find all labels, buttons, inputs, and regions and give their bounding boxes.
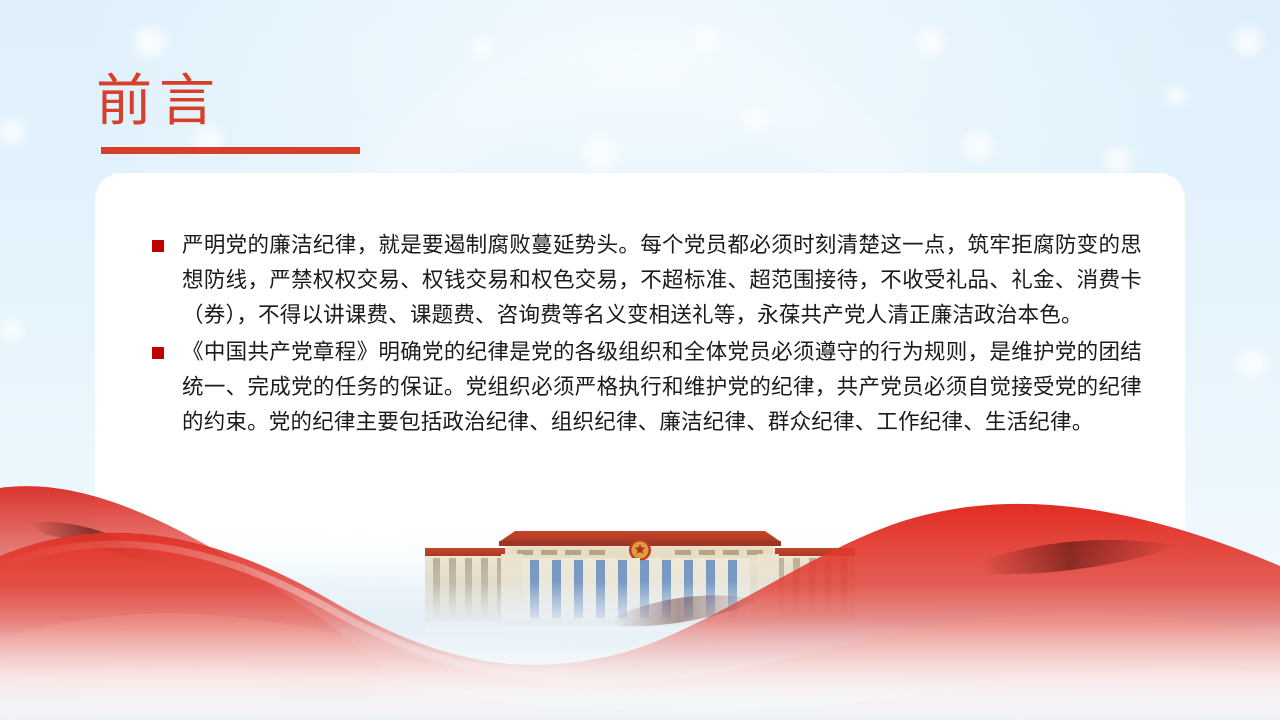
- page-title: 前言: [96, 74, 222, 130]
- list-item-text: 严明党的廉洁纪律，就是要遏制腐败蔓延势头。每个党员都必须时刻清楚这一点，筑牢拒腐…: [182, 233, 1142, 327]
- list-item: 《中国共产党章程》明确党的纪律是党的各级组织和全体党员必须遵守的行为规则，是维护…: [152, 335, 1142, 440]
- list-item-text: 《中国共产党章程》明确党的纪律是党的各级组织和全体党员必须遵守的行为规则，是维护…: [182, 340, 1142, 434]
- slide-canvas: 前言 严明党的廉洁纪律，就是要遏制腐败蔓延势头。每个党员都必须时刻清楚这一点，筑…: [0, 0, 1280, 720]
- bullet-list: 严明党的廉洁纪律，就是要遏制腐败蔓延势头。每个党员都必须时刻清楚这一点，筑牢拒腐…: [152, 228, 1142, 442]
- title-underline-rule: [101, 147, 360, 154]
- list-item: 严明党的廉洁纪律，就是要遏制腐败蔓延势头。每个党员都必须时刻清楚这一点，筑牢拒腐…: [152, 228, 1142, 333]
- square-bullet-icon: [152, 240, 164, 252]
- square-bullet-icon: [152, 347, 164, 359]
